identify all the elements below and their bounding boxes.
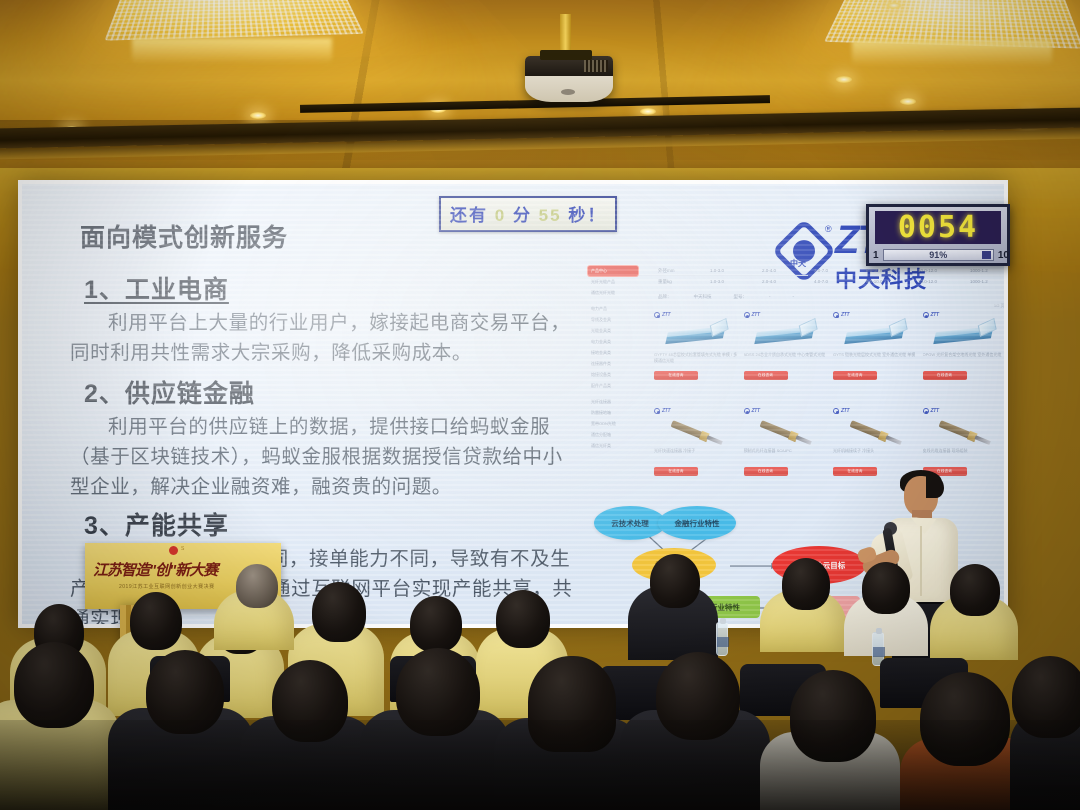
ztt-diamond-icon	[744, 408, 750, 414]
product-brand: ZTT	[654, 312, 740, 318]
catalog-product-grid-row1[interactable]: ZTTGYFTY 48芯层绞式松套管填充式光缆 单模 / 多模通信光缆在线咨询Z…	[654, 312, 1004, 402]
product-image	[744, 322, 830, 352]
product-card[interactable]: ZTTOPGW 光纤复合架空地线光缆 室外通信光缆在线咨询	[923, 312, 1005, 402]
timer-scale-min: 1	[873, 250, 879, 261]
audience-head	[312, 582, 366, 642]
product-card[interactable]: ZTT光纤快速连接器 冷接子在线咨询	[654, 408, 740, 498]
timer-digits: 0054	[898, 210, 978, 245]
downlight-icon	[886, 2, 902, 9]
catalog-filter-item[interactable]: -	[793, 294, 795, 300]
catalog-sidebar-item-2[interactable]: 通信光纤光缆	[588, 288, 638, 298]
catalog-spec-cell: 外径mm	[658, 268, 688, 274]
catalog-spec-row: 重量kg1.0-3.02.0-4.04.0-7.08.0-10.010.0-12…	[658, 279, 998, 285]
presenter-hair-side	[926, 476, 944, 498]
product-image	[744, 418, 830, 448]
catalog-sidebar-item-13[interactable]: 光纤连接器	[588, 397, 638, 407]
chandelier-left-glow	[132, 38, 332, 64]
product-card[interactable]: ZTT预制式光纤连接器 SC/UPC在线咨询	[744, 408, 830, 498]
product-brand: ZTT	[833, 408, 919, 414]
ztt-diamond-icon	[923, 408, 929, 414]
ztt-diamond-icon	[744, 312, 750, 318]
downlight-icon	[900, 98, 916, 105]
ztt-diamond-icon	[833, 312, 839, 318]
downlight-icon	[640, 108, 656, 115]
audience-head	[130, 592, 182, 650]
podium-org-mark: S	[181, 546, 184, 552]
product-brand-wordmark: ZTT	[662, 408, 670, 414]
product-card[interactable]: ZTTADSS 24芯全介质自承式光缆 中心束管式光缆在线咨询	[744, 312, 830, 402]
audience-head	[950, 564, 1000, 616]
tool-tip	[885, 435, 901, 445]
catalog-sidebar-item-10[interactable]: 熔接设备类	[588, 370, 638, 380]
catalog-spec-cell: 2.0-4.0	[762, 279, 792, 285]
catalog-spec-cell: 1000-1.2	[970, 279, 1000, 285]
catalog-sidebar-item-7[interactable]: 电力金具类	[588, 337, 638, 347]
countdown-prefix: 还有	[450, 206, 488, 225]
audience-head	[410, 596, 462, 652]
catalog-spec-cell: 10.0-12.0	[918, 268, 948, 274]
catalog-sidebar-item-5[interactable]: 导线及金具	[588, 315, 638, 325]
catalog-sidebar-item-14[interactable]: 防雷接地箱	[588, 408, 638, 418]
ztt-diamond-icon	[923, 312, 929, 318]
projector-bracket	[540, 50, 592, 60]
countdown-seconds-unit: 秒！	[568, 206, 606, 225]
countdown-minutes: 0	[495, 206, 506, 225]
tool-tip	[706, 435, 722, 445]
catalog-spec-cell: 重量kg	[658, 279, 688, 285]
catalog-sidebar-item-4[interactable]: 电力产品	[588, 304, 638, 314]
slide-heading-3: 3、产能共享	[84, 506, 229, 542]
product-brand-wordmark: ZTT	[841, 408, 849, 414]
product-brand-wordmark: ZTT	[752, 408, 760, 414]
catalog-spec-cell: 1.0-3.0	[710, 268, 740, 274]
countdown-minutes-unit: 分	[513, 206, 532, 225]
downlight-icon	[836, 76, 852, 83]
catalog-sidebar-item-8[interactable]: 接地金具类	[588, 348, 638, 358]
ztt-diamond-icon	[833, 408, 839, 414]
timer-lcd-screen: 0054	[875, 211, 1001, 244]
ceiling-projector	[525, 56, 613, 102]
product-brand: ZTT	[923, 312, 1005, 318]
ztt-diamond-icon	[654, 312, 660, 318]
product-name: GYFTY 48芯层绞式松套管填充式光缆 单模 / 多模通信光缆	[654, 352, 740, 368]
tool-tip	[975, 435, 991, 445]
catalog-spec-cell: 4.0-7.0	[814, 279, 844, 285]
catalog-spec-cell: 8.0-10.0	[866, 279, 896, 285]
catalog-sidebar-item-9[interactable]: 连接器件类	[588, 359, 638, 369]
product-image	[833, 322, 919, 352]
catalog-sidebar-item-17[interactable]: 通信光纤类	[588, 441, 638, 451]
product-brand-wordmark: ZTT	[931, 312, 939, 318]
projector-vent-icon	[584, 60, 608, 72]
product-brand: ZTT	[744, 312, 830, 318]
catalog-spec-cell: 8.0-10.0	[866, 268, 896, 274]
catalog-sidebar[interactable]: 产品中心光纤光缆产品通信光纤光缆电力产品导线及金具光缆金具类电力金具类接地金具类…	[588, 266, 638, 478]
timer-progress-track[interactable]: 91%	[883, 249, 994, 261]
catalog-spec-cell: 1000-1.2	[970, 268, 1000, 274]
timer-progress-label: 91%	[929, 250, 947, 260]
foreground-shadow	[0, 720, 1080, 810]
catalog-sidebar-item-6[interactable]: 光缆金具类	[588, 326, 638, 336]
flow-node-cloud-tech: 云技术处理	[594, 506, 666, 540]
product-inquiry-button[interactable]: 在线咨询	[654, 467, 698, 476]
product-catalog-screenshot: 产品中心光纤光缆产品通信光纤光缆电力产品导线及金具光缆金具类电力金具类接地金具类…	[588, 266, 1004, 488]
timer-progress-knob[interactable]	[982, 251, 991, 259]
downlight-icon	[250, 112, 266, 119]
tool-tip	[796, 435, 812, 445]
cable-tray-graphic	[753, 324, 819, 350]
catalog-pagination[interactable]: 1/2 页 >	[994, 302, 1004, 309]
catalog-filter-row[interactable]: 品牌：中天科技型号：--	[658, 294, 794, 300]
cable-tray-graphic	[932, 324, 998, 350]
slide-heading-1: 1、工业电商	[84, 270, 229, 306]
podium-org-logo-icon	[169, 546, 178, 555]
product-image	[923, 322, 1005, 352]
crystal-chandelier-left	[104, 0, 363, 41]
product-image	[654, 418, 740, 448]
product-inquiry-button[interactable]: 在线咨询	[744, 467, 788, 476]
catalog-sidebar-item-11[interactable]: 配件产品类	[588, 381, 638, 391]
chandelier-right-glow	[852, 40, 1052, 66]
catalog-sidebar-item-15[interactable]: 宽带ODN光缆	[588, 419, 638, 429]
audience-head	[14, 642, 94, 728]
catalog-spec-cell: 10.0-12.0	[918, 279, 948, 285]
product-image	[654, 322, 740, 352]
product-image	[833, 418, 919, 448]
product-inquiry-button[interactable]: 在线咨询	[744, 371, 788, 380]
audience-head	[782, 558, 830, 610]
product-name: GYTS 铠装光缆层绞式光缆 室外通信光缆 单模	[833, 352, 919, 368]
slide-heading-2: 2、供应链金融	[84, 374, 255, 410]
catalog-spec-row: 外径mm1.0-3.02.0-4.03.0-7.08.0-10.010.0-12…	[658, 268, 998, 274]
product-brand: ZTT	[654, 408, 740, 414]
registered-trademark-icon: ®	[825, 224, 832, 234]
catalog-filter-item[interactable]: 型号：	[734, 294, 748, 300]
product-brand-wordmark: ZTT	[931, 408, 939, 414]
water-bottle	[716, 622, 728, 656]
cable-tray-graphic	[664, 324, 730, 350]
ztt-diamond-icon	[654, 408, 660, 414]
catalog-filter-item[interactable]: 中天科技	[694, 294, 712, 300]
flow-node-finance-traits: 金融行业特性	[658, 506, 736, 540]
catalog-spec-table: 外径mm1.0-3.02.0-4.03.0-7.08.0-10.010.0-12…	[658, 268, 998, 285]
audience-head	[236, 564, 278, 608]
countdown-banner: 还有 0 分 55 秒！	[439, 196, 617, 232]
catalog-spec-cell: 2.0-4.0	[762, 268, 792, 274]
projector-lens-icon	[561, 89, 575, 95]
product-brand-wordmark: ZTT	[841, 312, 849, 318]
catalog-sidebar-item-1[interactable]: 光纤光缆产品	[588, 277, 638, 287]
timer-scale-row: 1 91% 10	[873, 247, 1009, 263]
audience-head	[650, 554, 700, 608]
product-name: OPGW 光纤复合架空地线光缆 室外通信光缆	[923, 352, 1005, 368]
cable-tray-graphic	[843, 324, 909, 350]
catalog-filter-item[interactable]: 品牌：	[658, 294, 672, 300]
product-inquiry-button[interactable]: 在线咨询	[833, 371, 877, 380]
product-name: ADSS 24芯全介质自承式光缆 中心束管式光缆	[744, 352, 830, 368]
slide-body-1: 利用平台上大量的行业用户，嫁接起电商交易平台，同时利用共性需求大宗采购，降低采购…	[70, 308, 582, 368]
catalog-spec-cell: 3.0-7.0	[814, 268, 844, 274]
product-inquiry-button[interactable]: 在线咨询	[923, 371, 967, 380]
product-image	[923, 418, 1005, 448]
product-brand: ZTT	[744, 408, 830, 414]
conference-photo-scene: 面向模式创新服务 1、工业电商 利用平台上大量的行业用户，嫁接起电商交易平台，同…	[0, 0, 1080, 810]
product-card[interactable]: ZTTGYTS 铠装光缆层绞式光缆 室外通信光缆 单模在线咨询	[833, 312, 919, 402]
bottle-label	[873, 647, 885, 657]
catalog-filter-item[interactable]: -	[769, 294, 771, 300]
timer-scale-max: 10	[998, 250, 1009, 261]
product-brand-wordmark: ZTT	[752, 312, 760, 318]
product-brand: ZTT	[833, 312, 919, 318]
product-brand-wordmark: ZTT	[662, 312, 670, 318]
catalog-sidebar-item-0[interactable]: 产品中心	[588, 266, 638, 276]
countdown-seconds: 55	[539, 206, 562, 225]
audience-head	[862, 562, 910, 614]
audience-head	[496, 590, 550, 648]
bottle-label	[717, 637, 729, 647]
product-card[interactable]: ZTTGYFTY 48芯层绞式松套管填充式光缆 单模 / 多模通信光缆在线咨询	[654, 312, 740, 402]
slide-body-2: 利用平台的供应链上的数据，提供接口给蚂蚁金服（基于区块链技术），蚂蚁金服根据数据…	[70, 412, 582, 502]
catalog-sidebar-item-16[interactable]: 通信分配箱	[588, 430, 638, 440]
product-inquiry-button[interactable]: 在线咨询	[654, 371, 698, 380]
digital-countdown-timer-device[interactable]: 0054 1 91% 10	[866, 204, 1010, 266]
catalog-spec-cell: 1.0-3.0	[710, 279, 740, 285]
slide-title: 面向模式创新服务	[80, 218, 288, 254]
